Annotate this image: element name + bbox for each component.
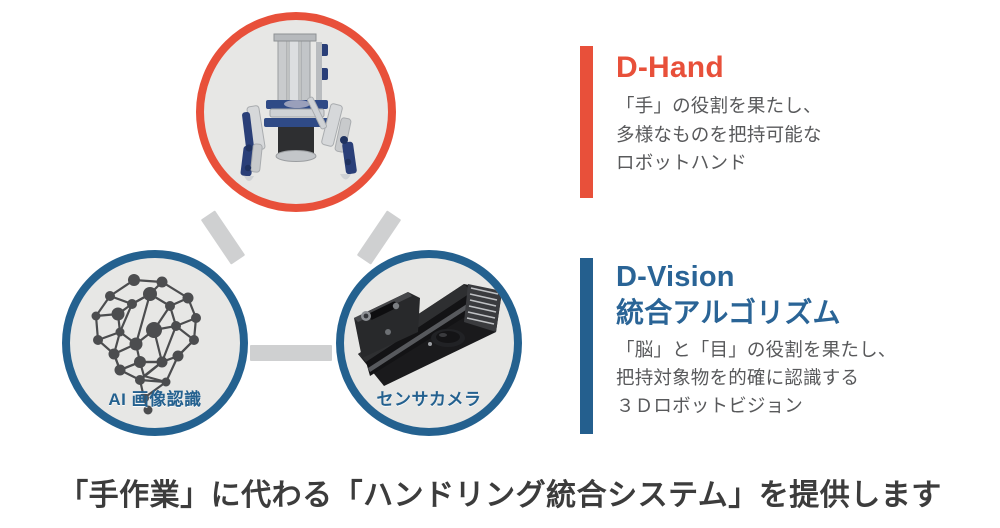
slide-canvas: AI 画像認識: [0, 0, 1000, 528]
desc-line: ３Ｄロボットビジョン: [616, 392, 897, 420]
desc-line: 把持対象物を的確に認識する: [616, 364, 897, 392]
node-label-camera: センサカメラ: [344, 385, 514, 410]
panel-description-d-hand: 「手」の役割を果たし、 多様なものを把持可能な ロボットハンド: [616, 92, 822, 176]
node-sensor-camera[interactable]: センサカメラ: [336, 250, 522, 436]
node-ai-image-recognition[interactable]: AI 画像認識: [62, 250, 248, 436]
system-diagram: AI 画像認識: [0, 0, 560, 462]
connector-ai-to-camera: [250, 345, 332, 361]
desc-line: 「脳」と「目」の役割を果たし、: [616, 336, 897, 364]
node-robot-hand[interactable]: [196, 12, 396, 212]
accent-bar-d-hand: [580, 46, 593, 198]
desc-line: ロボットハンド: [616, 149, 822, 177]
panel-title-d-vision: D-Vision 統合アルゴリズム: [616, 258, 897, 329]
node-label-ai: AI 画像認識: [70, 385, 240, 410]
desc-line: 「手」の役割を果たし、: [616, 92, 822, 120]
panel-d-hand: D-Hand 「手」の役割を果たし、 多様なものを把持可能な ロボットハンド: [580, 46, 822, 177]
tagline: 「手作業」に代わる「ハンドリング統合システム」を提供します: [0, 470, 1000, 514]
panel-title-d-vision-sub: 統合アルゴリズム: [616, 296, 897, 329]
panel-title-d-hand: D-Hand: [616, 46, 822, 85]
desc-line: 多様なものを把持可能な: [616, 121, 822, 149]
accent-bar-d-vision: [580, 258, 593, 434]
panel-d-vision: D-Vision 統合アルゴリズム 「脳」と「目」の役割を果たし、 把持対象物を…: [580, 258, 897, 421]
robot-gripper-icon: [204, 20, 388, 204]
panel-title-d-vision-main: D-Vision: [616, 261, 735, 293]
connector-hand-to-ai: [201, 210, 245, 264]
panel-description-d-vision: 「脳」と「目」の役割を果たし、 把持対象物を的確に認識する ３Ｄロボットビジョン: [616, 336, 897, 420]
